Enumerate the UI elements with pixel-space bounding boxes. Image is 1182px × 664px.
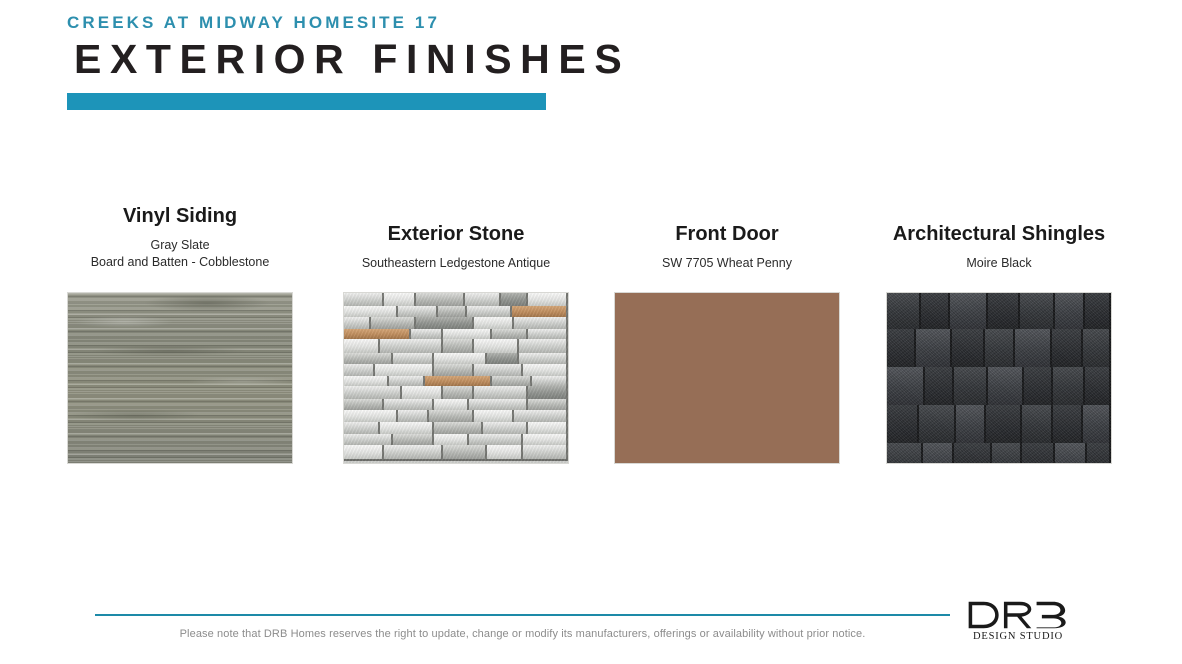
drb-design-studio-logo: DESIGN STUDIO bbox=[966, 600, 1070, 642]
vinyl-siding-swatch bbox=[67, 292, 293, 464]
logo-subtext: DESIGN STUDIO bbox=[966, 631, 1070, 642]
finish-heading: Architectural Shingles bbox=[859, 222, 1139, 246]
drb-wordmark-icon bbox=[966, 600, 1072, 630]
title-accent-bar bbox=[67, 93, 546, 110]
finish-column-vinyl-siding: Vinyl Siding Gray Slate Board and Batten… bbox=[67, 196, 293, 464]
architectural-shingles-swatch bbox=[886, 292, 1112, 464]
finish-subtitle-line-1: SW 7705 Wheat Penny bbox=[587, 255, 867, 272]
community-homesite-label: CREEKS AT MIDWAY HOMESITE 17 bbox=[67, 14, 687, 33]
finish-subtitle-line-1: Southeastern Ledgestone Antique bbox=[316, 255, 596, 272]
footer-disclaimer: Please note that DRB Homes reserves the … bbox=[95, 628, 950, 640]
finish-heading: Vinyl Siding bbox=[67, 204, 293, 228]
page-title: EXTERIOR FINISHES bbox=[74, 39, 630, 80]
page-title-wrap: EXTERIOR FINISHES bbox=[67, 39, 687, 87]
finish-heading: Front Door bbox=[587, 222, 867, 246]
finish-subtitle-line-1: Moire Black bbox=[859, 255, 1139, 272]
finish-subtitle: Moire Black bbox=[859, 255, 1139, 272]
finish-subtitle-line-1: Gray Slate bbox=[30, 237, 330, 254]
finish-subtitle: SW 7705 Wheat Penny bbox=[587, 255, 867, 272]
finish-column-exterior-stone: Exterior Stone Southeastern Ledgestone A… bbox=[343, 196, 569, 464]
exterior-stone-swatch bbox=[343, 292, 569, 464]
finish-column-architectural-shingles: Architectural Shingles Moire Black bbox=[886, 196, 1112, 464]
finish-subtitle-line-2: Board and Batten - Cobblestone bbox=[30, 254, 330, 271]
page-header: CREEKS AT MIDWAY HOMESITE 17 EXTERIOR FI… bbox=[67, 14, 687, 87]
front-door-swatch bbox=[614, 292, 840, 464]
footer-divider bbox=[95, 614, 950, 616]
finish-heading: Exterior Stone bbox=[316, 222, 596, 246]
finish-column-front-door: Front Door SW 7705 Wheat Penny bbox=[614, 196, 840, 464]
finish-subtitle: Southeastern Ledgestone Antique bbox=[316, 255, 596, 272]
finish-subtitle: Gray Slate Board and Batten - Cobbleston… bbox=[30, 237, 330, 271]
